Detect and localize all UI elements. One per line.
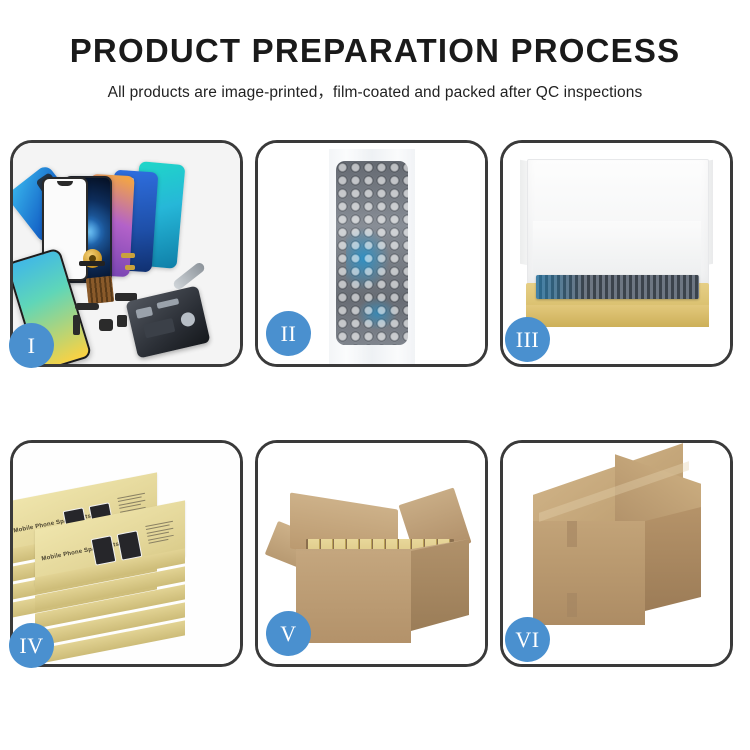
product-preparation-process-infographic: PRODUCT PREPARATION PROCESS All products… (0, 0, 750, 750)
step-panel-5[interactable]: V (255, 440, 488, 667)
carton-front-panel-icon (533, 521, 645, 625)
carton-side-face-icon (411, 539, 469, 631)
step-panel-2[interactable]: II (255, 140, 488, 367)
tape-seam-bottom-icon (567, 593, 577, 617)
foam-padding-icon (533, 221, 701, 281)
flex-cable-2-icon (73, 315, 80, 335)
carton-right-face-icon (645, 507, 701, 611)
step-panel-1[interactable]: I (10, 140, 243, 367)
gold-flex-2-icon (125, 265, 135, 270)
phone-chassis-icon (125, 285, 210, 358)
vibrator-motor-icon (99, 319, 113, 331)
process-steps-grid: I II (10, 140, 740, 667)
header: PRODUCT PREPARATION PROCESS All products… (0, 0, 750, 102)
wrapped-product-icon (536, 275, 699, 299)
gold-flex-1-icon (121, 253, 135, 258)
earpiece-mesh-icon (79, 261, 105, 266)
screw-grid-icon (86, 276, 115, 305)
step-panel-6[interactable]: VI (500, 440, 733, 667)
tape-seam-top-icon (567, 521, 577, 547)
flex-cable-1-icon (75, 303, 99, 310)
step-badge-5: V (266, 611, 311, 656)
page-title: PRODUCT PREPARATION PROCESS (0, 34, 750, 67)
step-badge-4: IV (9, 623, 54, 668)
page-subtitle: All products are image-printed，film-coat… (0, 80, 750, 102)
step-badge-1: I (9, 323, 54, 368)
step-panel-4[interactable]: Mobile Phone Spare Parts (10, 440, 243, 667)
bubble-wrap-icon (336, 161, 408, 345)
step-panel-3[interactable]: III (500, 140, 733, 367)
carton-front-face-icon (296, 551, 411, 643)
step-badge-2: II (266, 311, 311, 356)
sim-tray-icon (117, 315, 127, 327)
step-badge-3: III (505, 317, 550, 362)
step-badge-6: VI (505, 617, 550, 662)
